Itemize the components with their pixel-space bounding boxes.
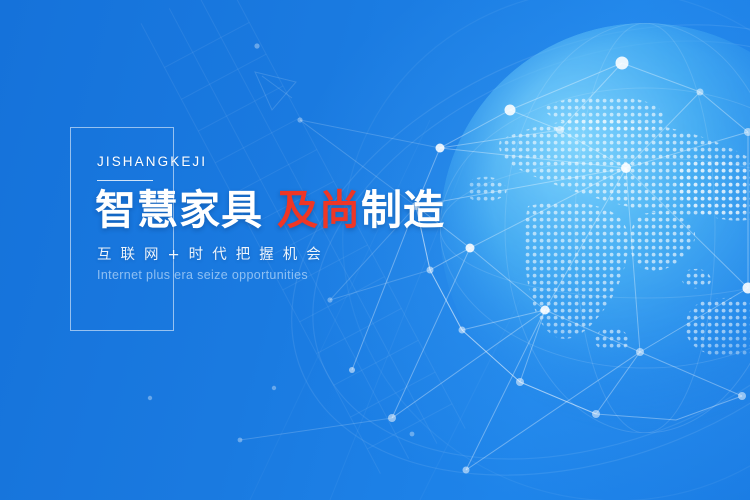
subtitle-cn: 互 联 网 + 时 代 把 握 机 会 [97, 248, 323, 263]
hero-banner: JISHANGKEJI 智慧家具及尚制造 互 联 网 + 时 代 把 握 机 会… [0, 0, 750, 500]
page-title: 智慧家具及尚制造 [95, 190, 445, 231]
brand-pinyin: JISHANGKEJI [97, 155, 207, 169]
subtitle-en: Internet plus era seize opportunities [97, 269, 308, 282]
headline-part1: 智慧家具 [95, 186, 263, 234]
headline-part2: 制造 [361, 186, 445, 234]
headline-accent: 及尚 [277, 186, 361, 234]
copy-block: JISHANGKEJI 智慧家具及尚制造 互 联 网 + 时 代 把 握 机 会… [0, 0, 460, 500]
eyebrow-rule [97, 180, 153, 181]
